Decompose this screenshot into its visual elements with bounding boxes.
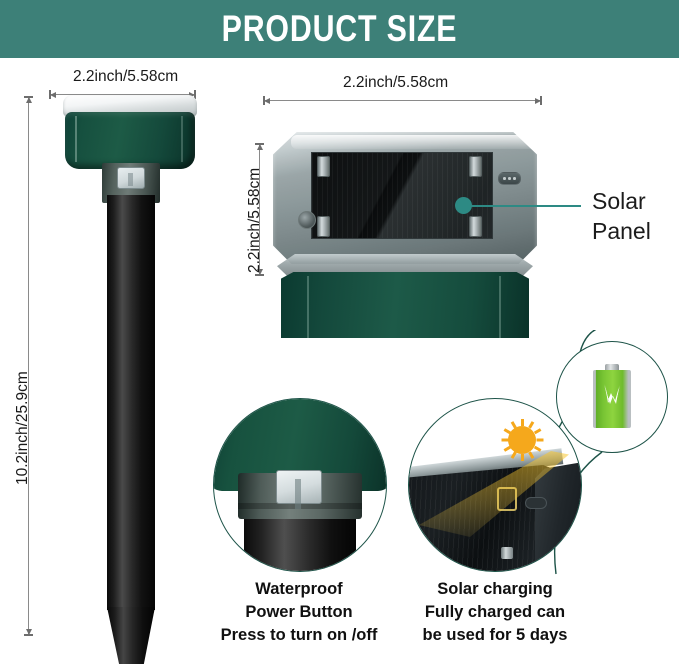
solar-head-width-arrow <box>263 96 542 105</box>
panel-screw <box>501 547 513 559</box>
device-side-wall <box>535 461 582 572</box>
stake-green-head <box>65 112 195 169</box>
inset-solar-charging <box>408 398 582 572</box>
inset-power-button <box>213 398 387 572</box>
solar-panel-callout-label-line1: Solar <box>592 186 646 217</box>
sun-icon <box>501 419 543 461</box>
speaker-vent <box>498 172 521 185</box>
side-vent <box>525 497 547 509</box>
solar-panel-callout-dot <box>455 197 472 214</box>
battery-icon <box>593 364 631 428</box>
screw-post <box>469 156 482 177</box>
caption-solar-line2: Fully charged can <box>400 601 590 624</box>
solar-head-height-label: 2.2inch/5.58cm <box>246 168 264 273</box>
caption-solar-line1: Solar charging <box>400 578 590 601</box>
stake-power-button <box>117 167 145 189</box>
screw-post <box>317 156 330 177</box>
power-button-switch <box>276 470 322 504</box>
solar-head-illustration <box>265 132 545 332</box>
product-size-infographic: PRODUCT SIZE 2.2inch/5.58cm 10.2inch/25.… <box>0 0 679 664</box>
caption-power-line3: Press to turn on /off <box>189 624 409 647</box>
screw-post <box>469 216 482 237</box>
screw-post <box>317 216 330 237</box>
led-indicator <box>298 211 316 229</box>
stake-height-arrow <box>24 96 33 636</box>
solar-head-width-label: 2.2inch/5.58cm <box>343 74 448 92</box>
stake-product-illustration <box>55 95 215 640</box>
solar-panel-callout-line <box>471 205 581 207</box>
lightning-bolt-icon <box>602 382 622 416</box>
caption-power-line1: Waterproof <box>199 578 399 601</box>
stake-ground-spike <box>107 607 155 664</box>
page-title: PRODUCT SIZE <box>61 0 618 58</box>
caption-power-line2: Power Button <box>199 601 399 624</box>
solar-panel-callout-label-line2: Panel <box>592 216 651 247</box>
power-shaft <box>244 515 356 572</box>
solar-panel-cell <box>311 152 493 239</box>
solar-head-green-body <box>281 272 529 338</box>
stake-width-label: 2.2inch/5.58cm <box>73 68 178 86</box>
inset-battery-status <box>556 341 668 453</box>
caption-solar-line3: be used for 5 days <box>400 624 590 647</box>
stake-height-label: 10.2inch/25.9cm <box>14 371 32 485</box>
stake-shaft <box>107 195 155 610</box>
